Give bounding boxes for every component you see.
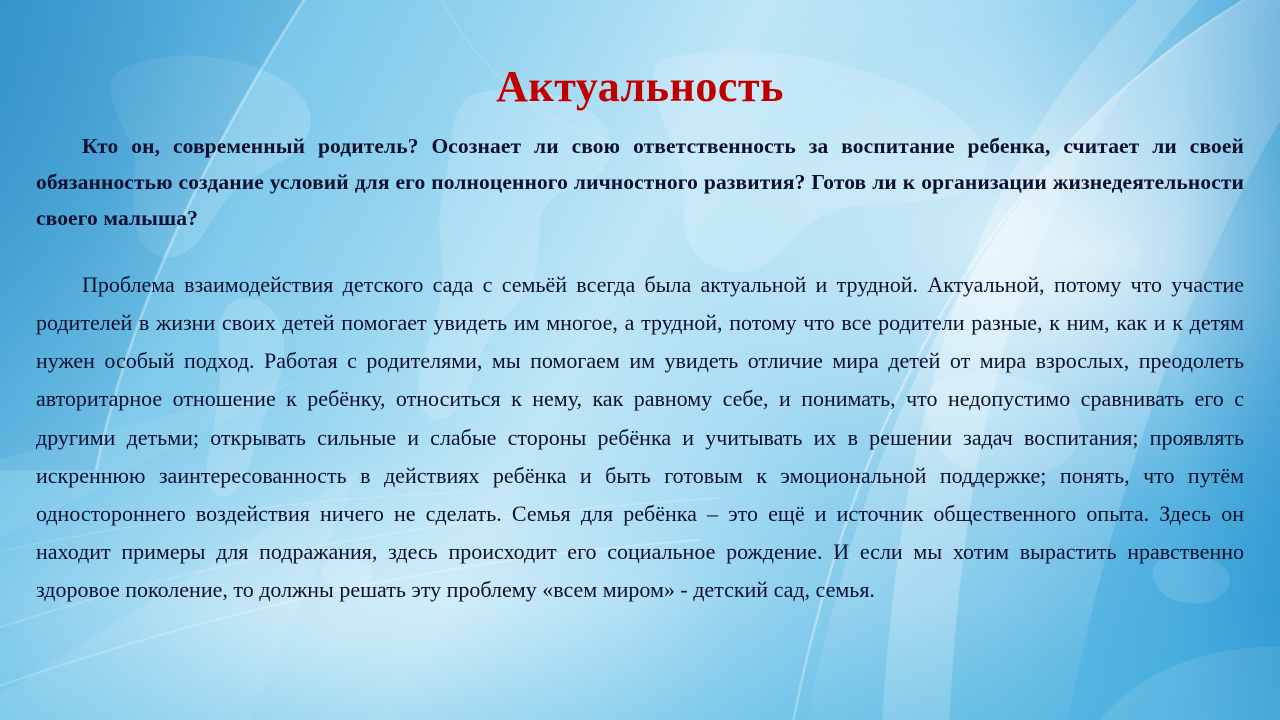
presentation-slide: Актуальность Кто он, современный родител… [0,0,1280,720]
lead-paragraph: Кто он, современный родитель? Осознает л… [36,128,1244,236]
slide-title: Актуальность [0,63,1280,111]
body-paragraph: Проблема взаимодействия детского сада с … [36,266,1244,608]
slide-content: Актуальность Кто он, современный родител… [0,0,1280,720]
slide-body: Кто он, современный родитель? Осознает л… [36,128,1244,609]
